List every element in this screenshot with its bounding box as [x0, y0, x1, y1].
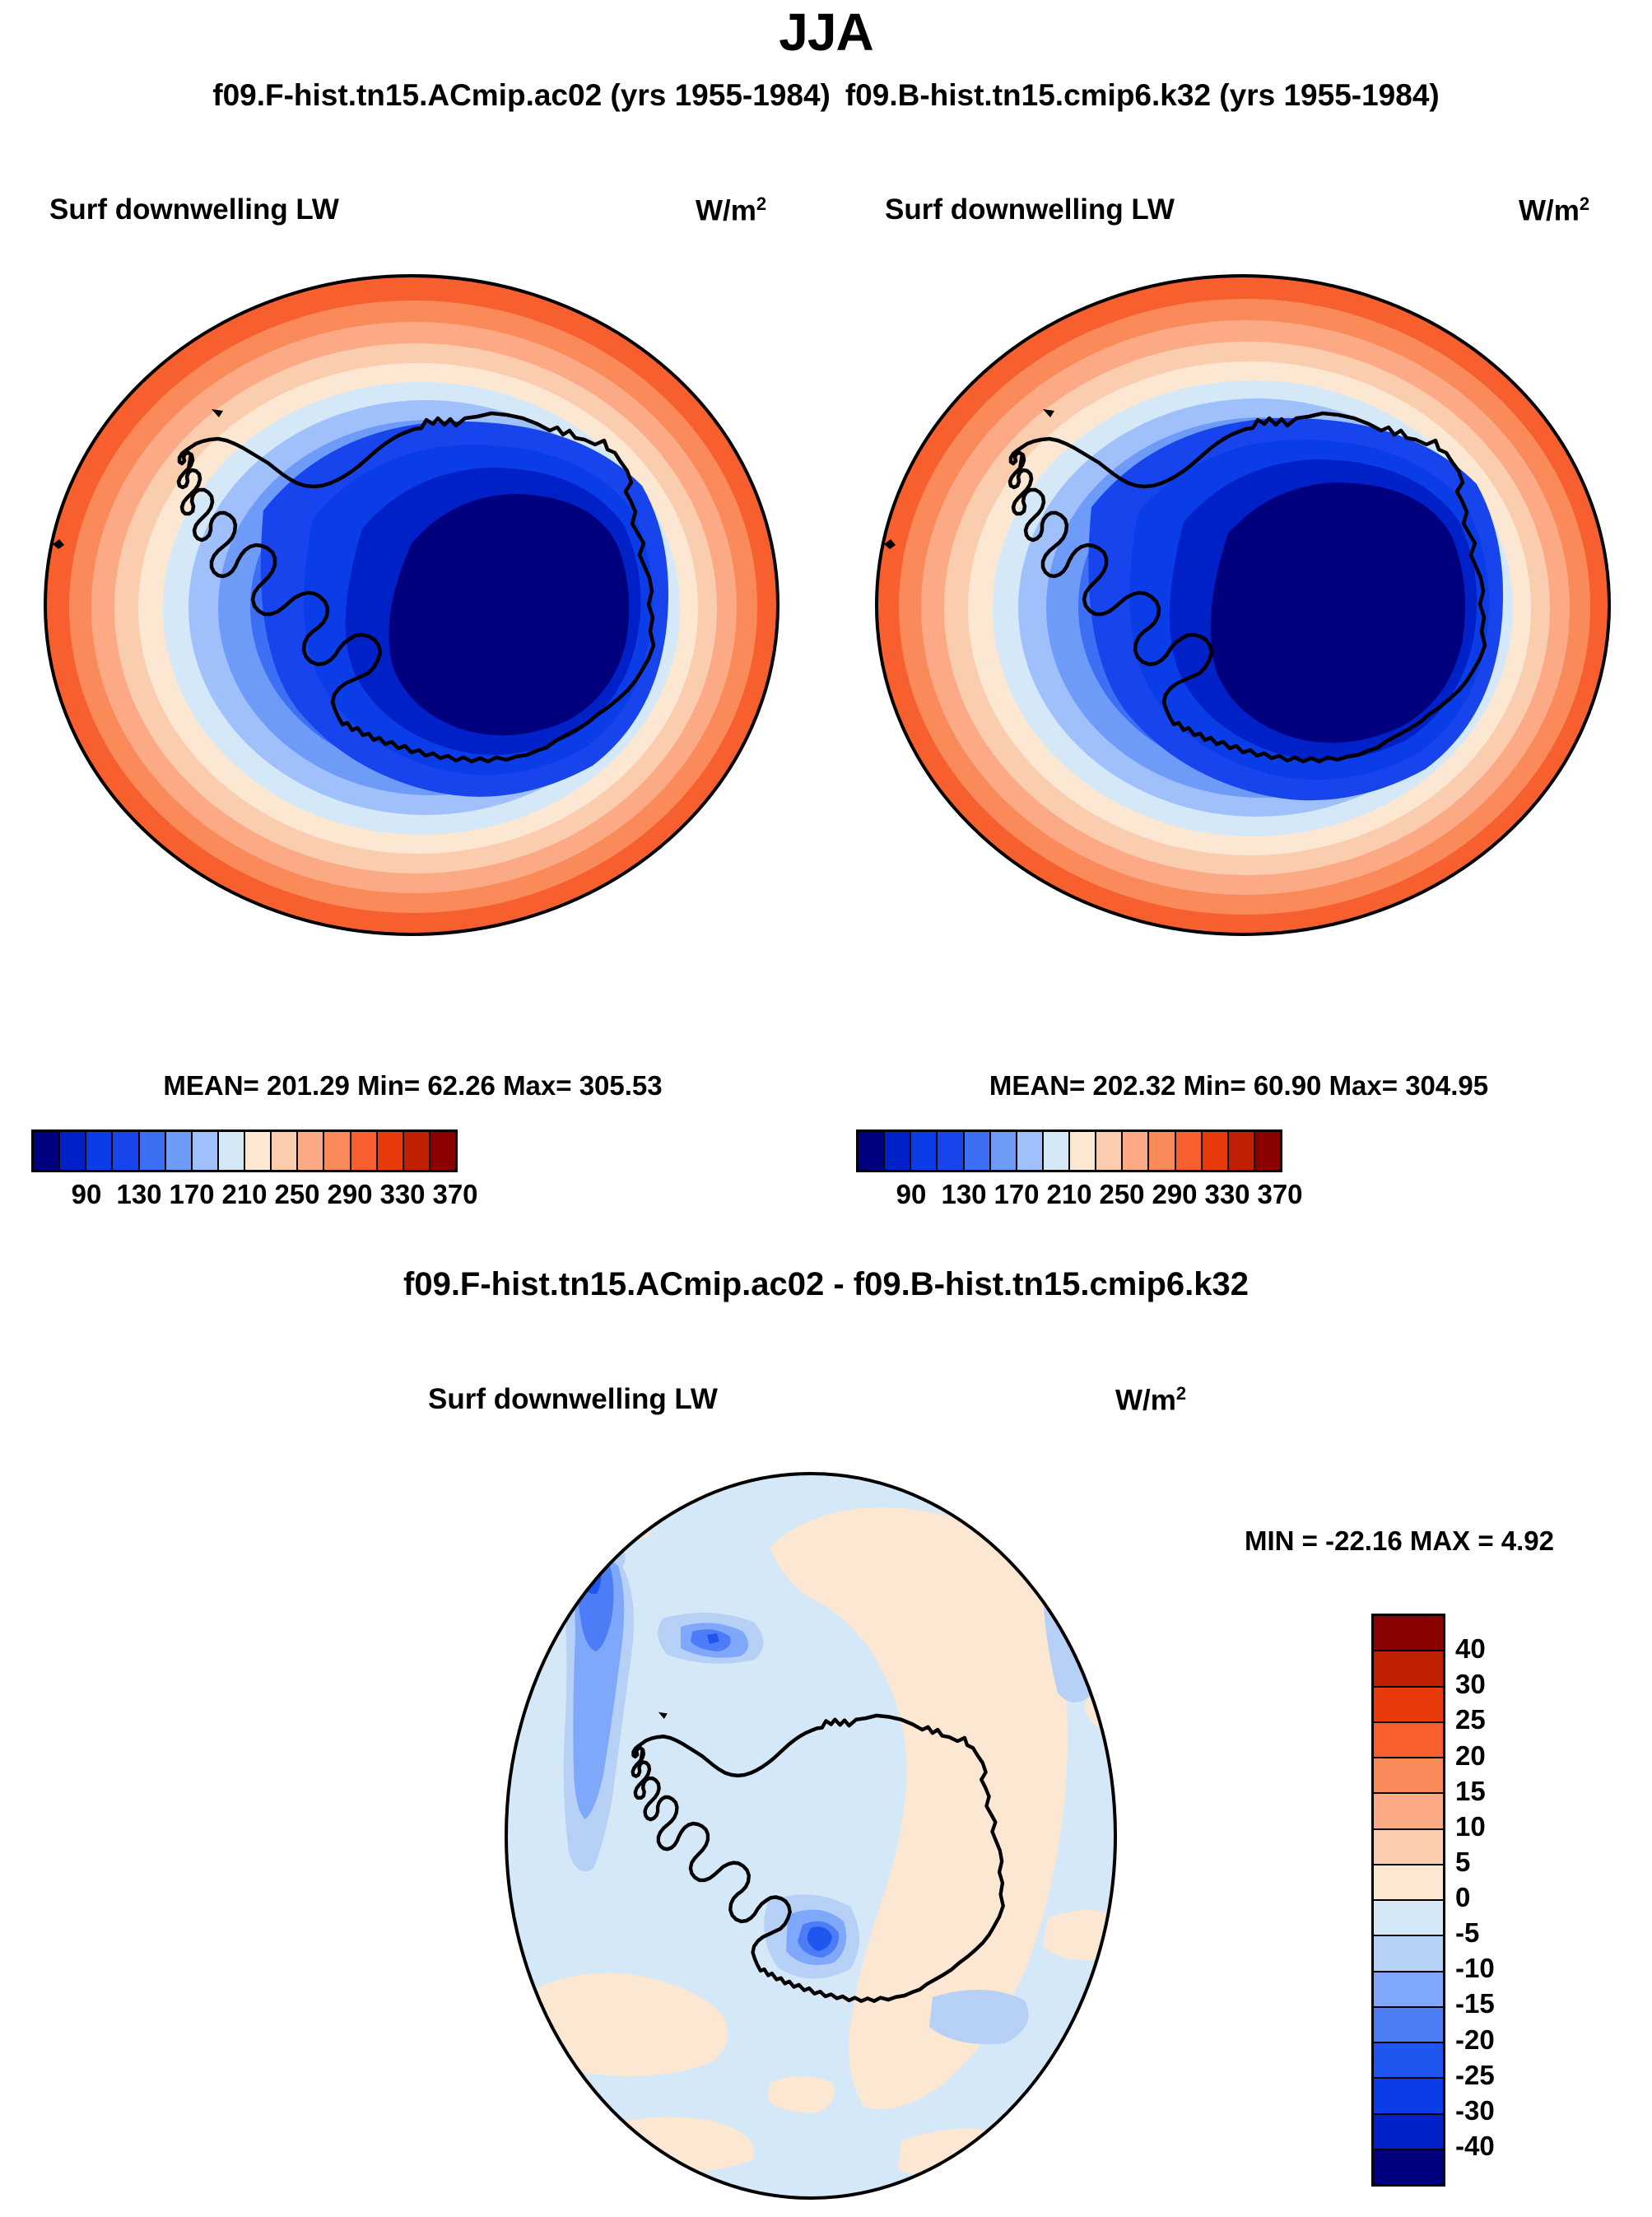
colorbar-tick: 250: [274, 1179, 319, 1210]
colorbar-cell: [113, 1132, 139, 1170]
colorbar-cell: [1203, 1132, 1229, 1170]
colorbar-cell: [1374, 1651, 1443, 1687]
colorbar-tick: 210: [221, 1179, 267, 1210]
right-map: [848, 156, 1638, 1054]
colorbar-cell: [1374, 2079, 1443, 2114]
colorbar-cell: [1096, 1132, 1123, 1170]
colorbar-tick: 370: [1257, 1179, 1302, 1210]
colorbar-cell: [1374, 1794, 1443, 1829]
colorbar-cell: [166, 1132, 193, 1170]
colorbar-cell: [1123, 1132, 1149, 1170]
colorbar-tick: -20: [1455, 2024, 1495, 2056]
colorbar-cell: [938, 1132, 964, 1170]
colorbar-tick: -40: [1455, 2131, 1495, 2162]
colorbar-cell: [86, 1132, 113, 1170]
colorbar-tick: -10: [1455, 1953, 1495, 1984]
colorbar-tick: -15: [1455, 1988, 1495, 2019]
right-colorbar-ticks: 90 130 170 210 250 290 330 370: [859, 1179, 1280, 1215]
figure-root: JJA f09.F-hist.tn15.ACmip.ac02 (yrs 1955…: [0, 0, 1652, 2217]
right-map-stats: MEAN= 202.32 Min= 60.90 Max= 304.95: [826, 1070, 1652, 1102]
colorbar-cell: [1255, 1132, 1280, 1170]
colorbar-cell: [430, 1132, 455, 1170]
left-colorbar-ticks: 90 130 170 210 250 290 330 370: [34, 1179, 455, 1215]
colorbar-cell: [140, 1132, 166, 1170]
colorbar-cell: [1374, 1972, 1443, 2008]
colorbar-tick: 15: [1455, 1776, 1486, 1807]
left-map: [16, 156, 807, 1054]
colorbar-tick: 130: [116, 1179, 161, 1210]
colorbar-tick: 30: [1455, 1669, 1486, 1700]
colorbar-cell: [245, 1132, 272, 1170]
colorbar-cell: [404, 1132, 430, 1170]
colorbar-cell: [193, 1132, 219, 1170]
colorbar-cell: [351, 1132, 378, 1170]
colorbar-tick: 250: [1099, 1179, 1144, 1210]
colorbar-tick: 330: [1204, 1179, 1249, 1210]
subtitle-left: f09.F-hist.tn15.ACmip.ac02 (yrs 1955-198…: [212, 78, 831, 113]
colorbar-tick: -25: [1455, 2060, 1495, 2091]
colorbar-cell: [885, 1132, 911, 1170]
colorbar-cell: [60, 1132, 86, 1170]
colorbar-cell: [1149, 1132, 1175, 1170]
colorbar-tick: 90: [896, 1179, 927, 1210]
colorbar-tick: 210: [1046, 1179, 1091, 1210]
colorbar-tick: 290: [327, 1179, 372, 1210]
colorbar-cell: [298, 1132, 324, 1170]
colorbar-tick: 20: [1455, 1740, 1486, 1772]
colorbar-tick: 0: [1455, 1882, 1470, 1913]
colorbar-cell: [1374, 2008, 1443, 2043]
colorbar-cell: [1374, 1901, 1443, 1936]
colorbar-cell: [1070, 1132, 1096, 1170]
colorbar-tick: 290: [1152, 1179, 1197, 1210]
colorbar-cell: [1374, 2115, 1443, 2150]
colorbar-cell: [1374, 1616, 1443, 1651]
colorbar-cell: [991, 1132, 1017, 1170]
colorbar-cell: [1374, 1865, 1443, 1901]
colorbar-cell: [1374, 1936, 1443, 1972]
difference-map-contours: [486, 1472, 1147, 2200]
difference-map: [416, 1457, 1206, 2215]
colorbar-cell: [1374, 2043, 1443, 2079]
diff-panel-variable-label: Surf downwelling LW: [428, 1383, 718, 1416]
difference-panel-title: f09.F-hist.tn15.ACmip.ac02 - f09.B-hist.…: [0, 1266, 1652, 1303]
difference-colorbar-ticks: 40 30 25 20 15 10 5 0 -5 -10 -15 -20 -25…: [1455, 1614, 1554, 2182]
colorbar-cell: [1176, 1132, 1203, 1170]
colorbar-tick: 330: [379, 1179, 425, 1210]
colorbar-cell: [911, 1132, 938, 1170]
colorbar-tick: 170: [169, 1179, 214, 1210]
colorbar-cell: [1374, 1688, 1443, 1723]
colorbar-cell: [1374, 1758, 1443, 1794]
colorbar-tick: 370: [432, 1179, 477, 1210]
colorbar-cell: [1229, 1132, 1255, 1170]
colorbar-cell: [1017, 1132, 1044, 1170]
colorbar-cell: [1374, 2150, 1443, 2184]
figure-title: JJA: [0, 2, 1652, 63]
colorbar-tick: 10: [1455, 1811, 1486, 1842]
diff-panel-units: W/m2: [1115, 1383, 1186, 1418]
left-colorbar[interactable]: [31, 1129, 458, 1172]
colorbar-cell: [859, 1132, 885, 1170]
colorbar-cell: [324, 1132, 351, 1170]
colorbar-tick: 90: [72, 1179, 102, 1210]
colorbar-tick: -5: [1455, 1917, 1479, 1949]
colorbar-cell: [1044, 1132, 1070, 1170]
colorbar-tick: 170: [994, 1179, 1039, 1210]
left-map-stats: MEAN= 201.29 Min= 62.26 Max= 305.53: [0, 1070, 826, 1102]
colorbar-tick: 40: [1455, 1633, 1486, 1665]
subtitle-right: f09.B-hist.tn15.cmip6.k32 (yrs 1955-1984…: [845, 78, 1440, 113]
colorbar-tick: 5: [1455, 1847, 1470, 1878]
colorbar-tick: 25: [1455, 1704, 1486, 1735]
subtitle-row: f09.F-hist.tn15.ACmip.ac02 (yrs 1955-198…: [0, 78, 1652, 113]
colorbar-tick: 130: [941, 1179, 986, 1210]
colorbar-cell: [378, 1132, 404, 1170]
diff-minmax-label: MIN = -22.16 MAX = 4.92: [1245, 1525, 1554, 1557]
colorbar-cell: [34, 1132, 60, 1170]
right-colorbar[interactable]: [856, 1129, 1282, 1172]
colorbar-cell: [1374, 1830, 1443, 1865]
colorbar-tick: -30: [1455, 2095, 1495, 2126]
colorbar-cell: [219, 1132, 245, 1170]
colorbar-cell: [272, 1132, 298, 1170]
difference-colorbar[interactable]: [1371, 1614, 1445, 2187]
colorbar-cell: [1374, 1723, 1443, 1758]
colorbar-cell: [965, 1132, 991, 1170]
